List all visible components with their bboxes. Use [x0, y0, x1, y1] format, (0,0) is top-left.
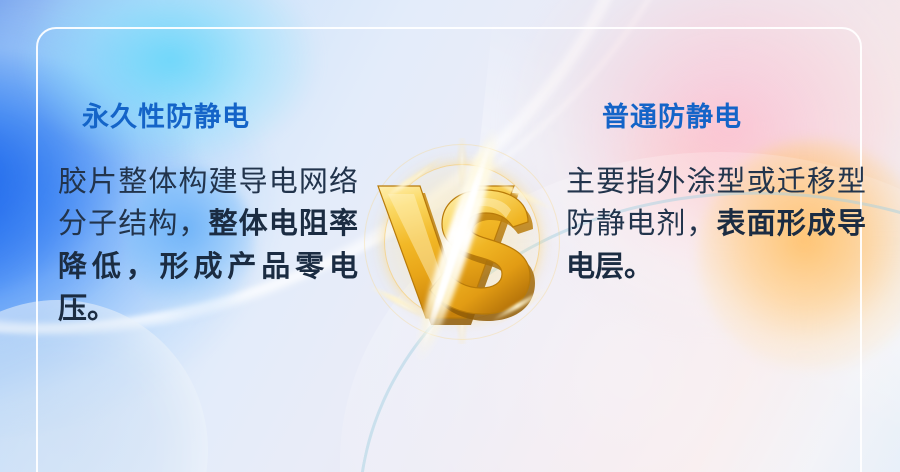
column-title-left: 永久性防静电 — [58, 104, 358, 131]
comparison-banner: 永久性防静电 胶片整体构建导电网络分子结构，整体电阻率降低，形成产品零电压。 — [0, 0, 900, 472]
column-title-right: 普通防静电 — [566, 104, 866, 131]
column-permanent-antistatic: 永久性防静电 胶片整体构建导电网络分子结构，整体电阻率降低，形成产品零电压。 — [58, 104, 358, 330]
column-body-left: 胶片整体构建导电网络分子结构，整体电阻率降低，形成产品零电压。 — [58, 161, 358, 330]
content-area: 永久性防静电 胶片整体构建导电网络分子结构，整体电阻率降低，形成产品零电压。 — [0, 0, 900, 472]
column-ordinary-antistatic: 普通防静电 主要指外涂型或迁移型防静电剂，表面形成导电层。 — [566, 104, 866, 288]
column-body-right: 主要指外涂型或迁移型防静电剂，表面形成导电层。 — [566, 161, 866, 288]
vs-emblem — [358, 138, 564, 344]
